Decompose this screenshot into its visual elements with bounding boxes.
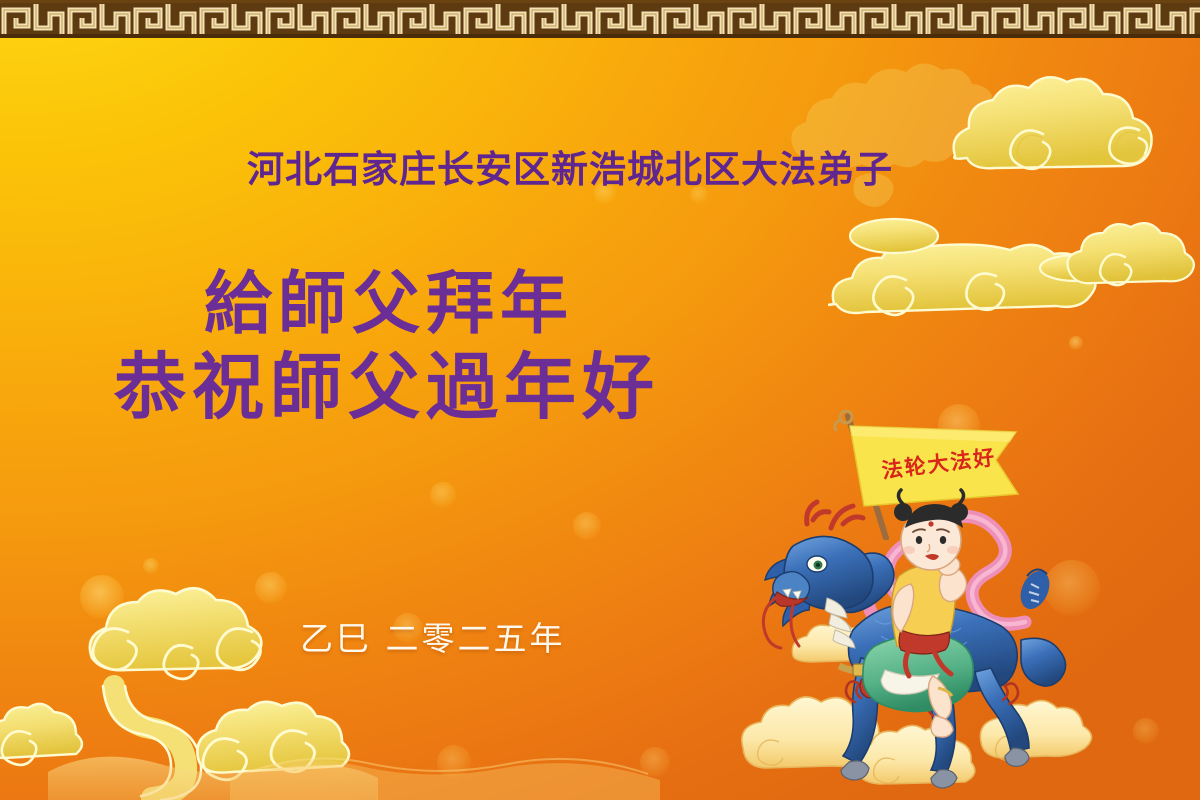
border-bottom-cap <box>0 34 1200 38</box>
light-bokeh-icon <box>1133 718 1159 744</box>
greeting-line-1: 給師父拜年 <box>110 265 810 345</box>
child-riding-dragon-icon <box>735 480 1095 800</box>
auspicious-cloud-icon <box>1063 205 1200 313</box>
light-bokeh-icon <box>1069 336 1083 350</box>
light-bokeh-icon <box>255 572 287 604</box>
meander-pattern <box>0 0 1200 38</box>
meander-border-icon <box>0 0 1200 38</box>
date-line: 乙巳 二零二五年 <box>300 612 566 660</box>
light-bokeh-icon <box>80 575 124 619</box>
light-bokeh-icon <box>143 558 159 574</box>
auspicious-cloud-icon <box>760 40 1090 230</box>
auspicious-cloud-icon <box>0 686 114 786</box>
tassel-icon <box>1015 566 1055 613</box>
auspicious-cloud-icon <box>230 738 660 800</box>
light-bokeh-icon <box>640 747 670 777</box>
greeting-block: 給師父拜年 恭祝師父過年好 <box>110 265 810 429</box>
auspicious-cloud-icon <box>828 172 1200 372</box>
sender-line: 河北石家庄长安区新浩城北区大法弟子 <box>0 139 1140 193</box>
light-bokeh-icon <box>573 512 601 540</box>
light-bokeh-icon <box>437 745 471 779</box>
greeting-line-2: 恭祝師父過年好 <box>110 345 810 429</box>
auspicious-cloud-icon <box>48 576 378 800</box>
new-year-greeting-card: 河北石家庄长安区新浩城北区大法弟子 給師父拜年 恭祝師父過年好 乙巳 二零二五年… <box>0 0 1200 800</box>
light-bokeh-icon <box>430 482 456 508</box>
